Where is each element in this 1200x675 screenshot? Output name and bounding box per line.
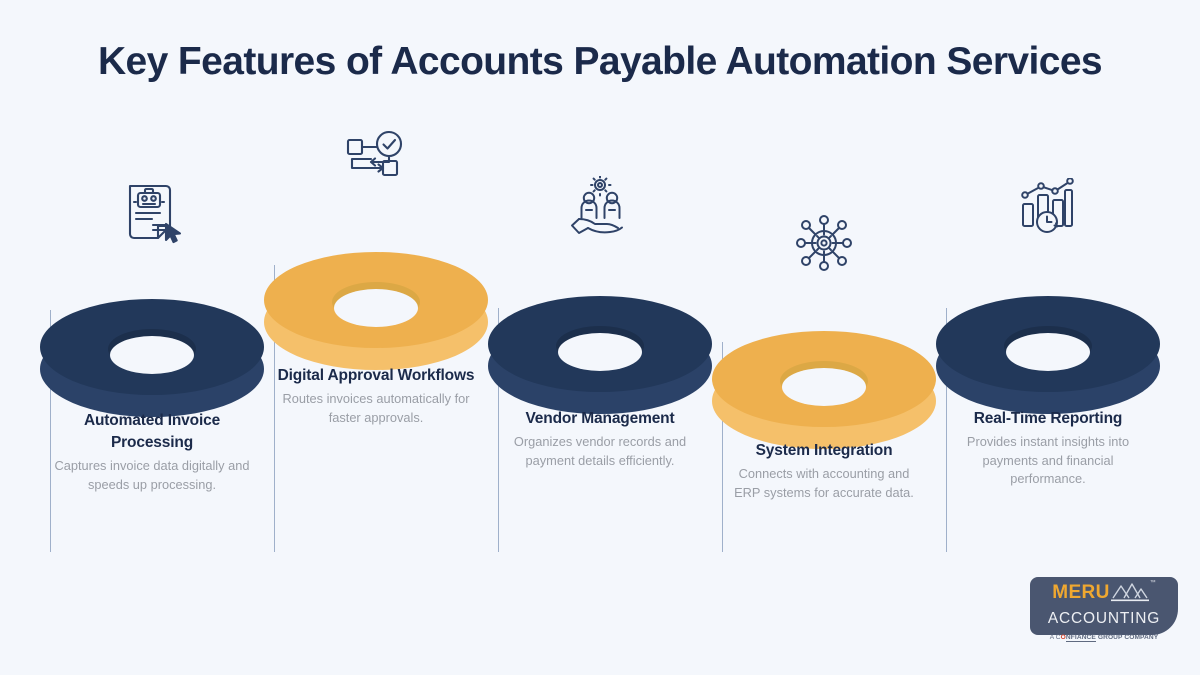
feature-description: Connects with accounting and ERP systems…: [724, 465, 924, 502]
tagline-mid: NFIANCE: [1066, 634, 1096, 641]
feature-card-real-time-reporting: Real-Time Reporting Provides instant ins…: [936, 120, 1160, 570]
feature-title: Digital Approval Workflows: [276, 365, 476, 387]
feature-description: Routes invoices automatically for faster…: [276, 390, 476, 427]
mountain-icon: [1111, 582, 1149, 607]
invoice-robot-cursor-icon: [40, 186, 264, 246]
feature-description: Captures invoice data digitally and spee…: [52, 457, 252, 494]
feature-card-digital-approval-workflows: Digital Approval Workflows Routes invoic…: [264, 120, 488, 570]
feature-title: Real-Time Reporting: [948, 408, 1148, 430]
donut-ring-navy: [936, 288, 1160, 418]
logo-brand-row: MERU ™: [1030, 583, 1178, 608]
feature-title: System Integration: [724, 440, 924, 462]
donut-ring-navy: [40, 291, 264, 421]
trademark-symbol: ™: [1150, 580, 1156, 586]
feature-text: System Integration Connects with account…: [724, 440, 924, 502]
vendor-people-gear-hand-icon: [488, 178, 712, 238]
tagline-post: GROUP COMPANY: [1098, 634, 1158, 641]
page-title: Key Features of Accounts Payable Automat…: [0, 40, 1200, 84]
feature-description: Organizes vendor records and payment det…: [500, 433, 700, 470]
feature-description: Provides instant insights into payments …: [948, 433, 1148, 489]
features-row: Automated Invoice Processing Captures in…: [40, 120, 1160, 570]
feature-text: Automated Invoice Processing Captures in…: [52, 410, 252, 494]
tagline-pre: A C: [1050, 634, 1061, 641]
feature-text: Real-Time Reporting Provides instant ins…: [948, 408, 1148, 489]
feature-title: Automated Invoice Processing: [52, 410, 252, 454]
donut-ring-amber: [264, 244, 488, 374]
network-hub-gear-icon: [712, 212, 936, 272]
donut-ring-navy: [488, 288, 712, 418]
logo-content: MERU ™ ACCOUNTING: [1030, 583, 1178, 627]
logo-tagline: A CONFIANCE GROUP COMPANY: [1030, 634, 1178, 641]
approval-workflow-check-icon: [264, 126, 488, 186]
feature-title: Vendor Management: [500, 408, 700, 430]
meru-accounting-logo[interactable]: MERU ™ ACCOUNTING: [1030, 577, 1178, 635]
logo-subbrand-text: ACCOUNTING: [1030, 610, 1178, 627]
donut-ring-amber: [712, 323, 936, 453]
feature-card-vendor-management: Vendor Management Organizes vendor recor…: [488, 120, 712, 570]
bar-chart-clock-icon: [936, 178, 1160, 238]
feature-text: Vendor Management Organizes vendor recor…: [500, 408, 700, 470]
feature-card-automated-invoice-processing: Automated Invoice Processing Captures in…: [40, 120, 264, 570]
logo-brand-text: MERU: [1052, 583, 1110, 602]
feature-text: Digital Approval Workflows Routes invoic…: [276, 365, 476, 427]
feature-card-system-integration: System Integration Connects with account…: [712, 120, 936, 570]
